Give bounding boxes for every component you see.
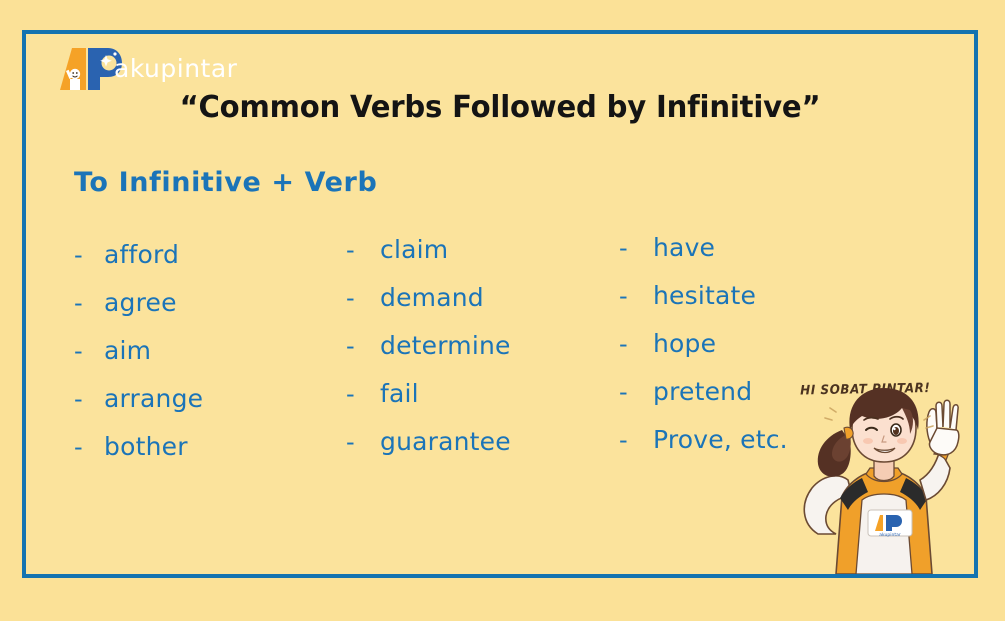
- bullet-dash: -: [619, 426, 653, 454]
- bullet-dash: -: [74, 433, 104, 461]
- brand-logo: akupintar: [40, 42, 270, 94]
- verb-label: hope: [653, 329, 716, 358]
- list-item: - claim: [346, 235, 511, 283]
- list-item: - aim: [74, 336, 203, 384]
- bullet-dash: -: [346, 428, 380, 456]
- bullet-dash: -: [346, 380, 380, 408]
- verb-label: claim: [380, 235, 448, 264]
- page-title: “Common Verbs Followed by Infinitive”: [40, 90, 960, 125]
- verb-label: demand: [380, 283, 484, 312]
- bullet-dash: -: [619, 330, 653, 358]
- list-item: - demand: [346, 283, 511, 331]
- list-item: - fail: [346, 379, 511, 427]
- verb-label: guarantee: [380, 427, 511, 456]
- list-item: - arrange: [74, 384, 203, 432]
- verb-column-3: - have - hesitate - hope - pretend - P: [619, 233, 788, 473]
- bullet-dash: -: [74, 289, 104, 317]
- verb-label: aim: [104, 336, 151, 365]
- mascot-illustration: akupintar: [790, 384, 976, 574]
- list-item: - Prove, etc.: [619, 425, 788, 473]
- list-item: - afford: [74, 240, 203, 288]
- bullet-dash: -: [346, 284, 380, 312]
- bullet-dash: -: [74, 385, 104, 413]
- verb-label: agree: [104, 288, 177, 317]
- bullet-dash: -: [74, 337, 104, 365]
- list-item: - determine: [346, 331, 511, 379]
- bullet-dash: -: [346, 236, 380, 264]
- list-item: - agree: [74, 288, 203, 336]
- verb-label: hesitate: [653, 281, 756, 310]
- verb-label: afford: [104, 240, 179, 269]
- bullet-dash: -: [619, 378, 653, 406]
- verb-label: arrange: [104, 384, 203, 413]
- slide-frame: akupintar “Common Verbs Followed by Infi…: [22, 30, 978, 578]
- svg-text:akupintar: akupintar: [879, 532, 901, 538]
- logo-wordmark: akupintar: [114, 54, 237, 83]
- list-item: - have: [619, 233, 788, 281]
- verb-column-2: - claim - demand - determine - fail -: [346, 235, 511, 475]
- bullet-dash: -: [619, 234, 653, 262]
- list-item: - guarantee: [346, 427, 511, 475]
- verb-label: have: [653, 233, 715, 262]
- logo-mark-icon: [60, 46, 122, 92]
- verb-label: determine: [380, 331, 511, 360]
- list-item: - bother: [74, 432, 203, 480]
- bullet-dash: -: [74, 241, 104, 269]
- verb-column-1: - afford - agree - aim - arrange - bot: [74, 240, 203, 480]
- list-item: - pretend: [619, 377, 788, 425]
- verb-label: bother: [104, 432, 188, 461]
- list-item: - hesitate: [619, 281, 788, 329]
- bullet-dash: -: [346, 332, 380, 360]
- verb-label: Prove, etc.: [653, 425, 788, 454]
- section-subtitle: To Infinitive + Verb: [74, 167, 377, 198]
- verb-label: pretend: [653, 377, 752, 406]
- verb-label: fail: [380, 379, 419, 408]
- bullet-dash: -: [619, 282, 653, 310]
- list-item: - hope: [619, 329, 788, 377]
- slide-canvas: akupintar “Common Verbs Followed by Infi…: [0, 0, 1005, 621]
